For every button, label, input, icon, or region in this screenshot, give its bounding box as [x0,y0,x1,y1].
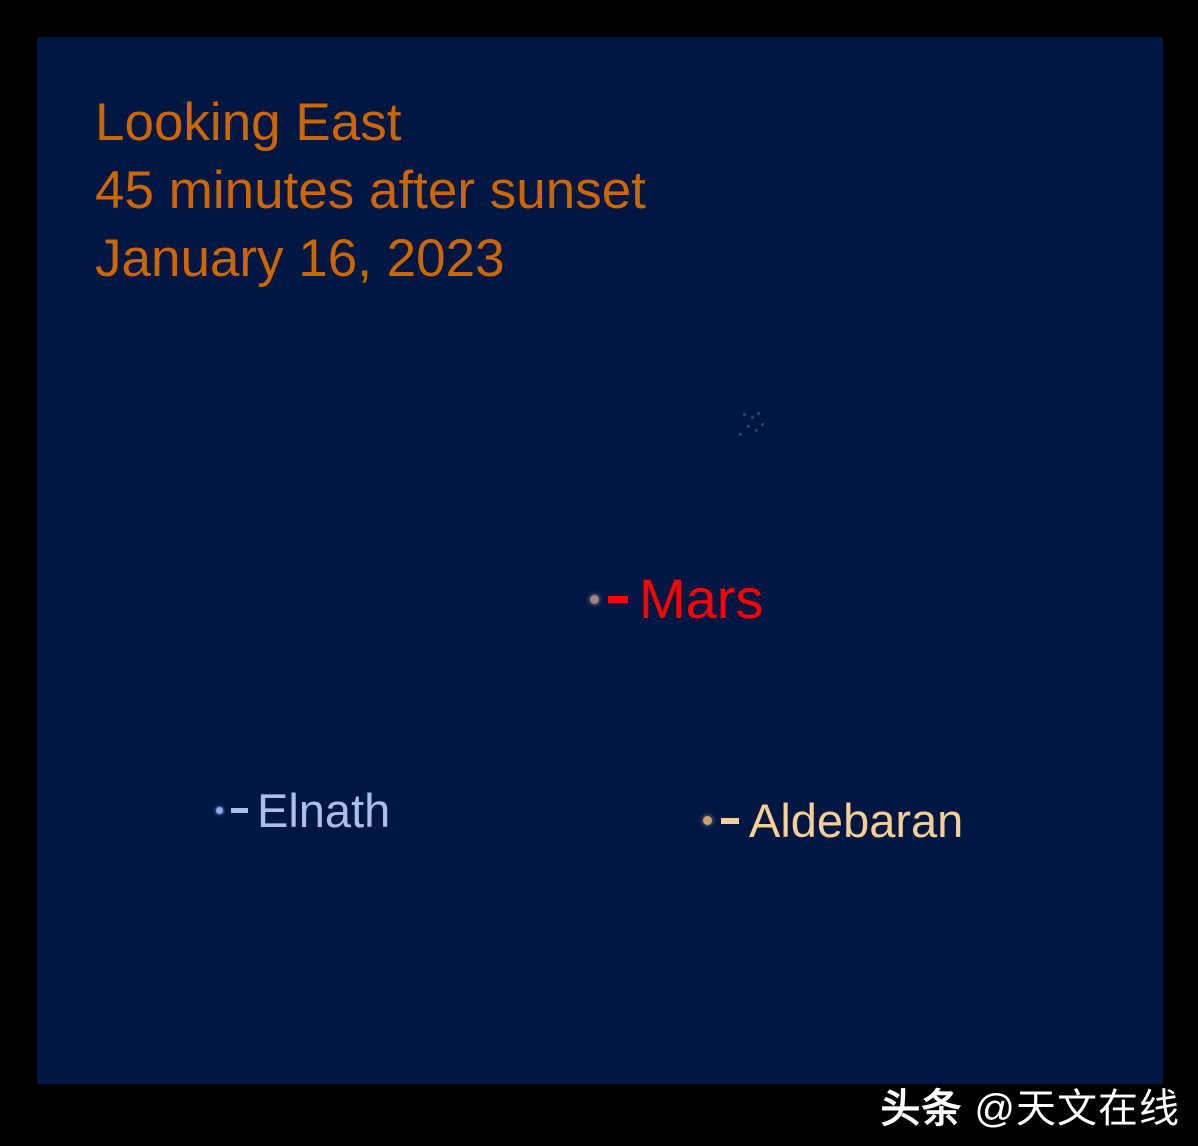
star-cluster-icon [735,411,777,447]
elnath-label-text: Elnath [257,787,390,834]
mars-leader-dash-icon [608,596,628,603]
watermark-brand: 头条 [880,1076,962,1134]
caption-block: Looking East 45 minutes after sunset Jan… [95,89,646,293]
object-label-elnath: Elnath [216,787,390,834]
mars-marker-icon [590,595,599,604]
faint-star-icon [757,412,760,415]
object-label-aldebaran: Aldebaran [703,797,963,844]
aldebaran-marker-icon [703,816,712,825]
mars-label-text: Mars [639,571,763,627]
faint-star-icon [751,416,754,419]
elnath-marker-icon [216,807,223,814]
faint-star-icon [747,425,750,428]
faint-star-icon [743,413,746,416]
sky-chart-canvas: Looking East 45 minutes after sunset Jan… [0,0,1198,1146]
faint-star-icon [761,423,764,426]
elnath-leader-dash-icon [231,808,248,813]
caption-line-date: January 16, 2023 [95,225,646,293]
faint-star-icon [755,429,758,432]
caption-line-direction: Looking East [95,89,646,157]
watermark: 头条 @天文在线 [880,1076,1180,1134]
object-label-mars: Mars [590,571,763,627]
watermark-handle: @天文在线 [974,1076,1180,1134]
caption-line-time: 45 minutes after sunset [95,157,646,225]
aldebaran-label-text: Aldebaran [749,797,963,844]
sky-panel: Looking East 45 minutes after sunset Jan… [37,37,1163,1084]
aldebaran-leader-dash-icon [721,818,739,824]
faint-star-icon [739,433,742,436]
